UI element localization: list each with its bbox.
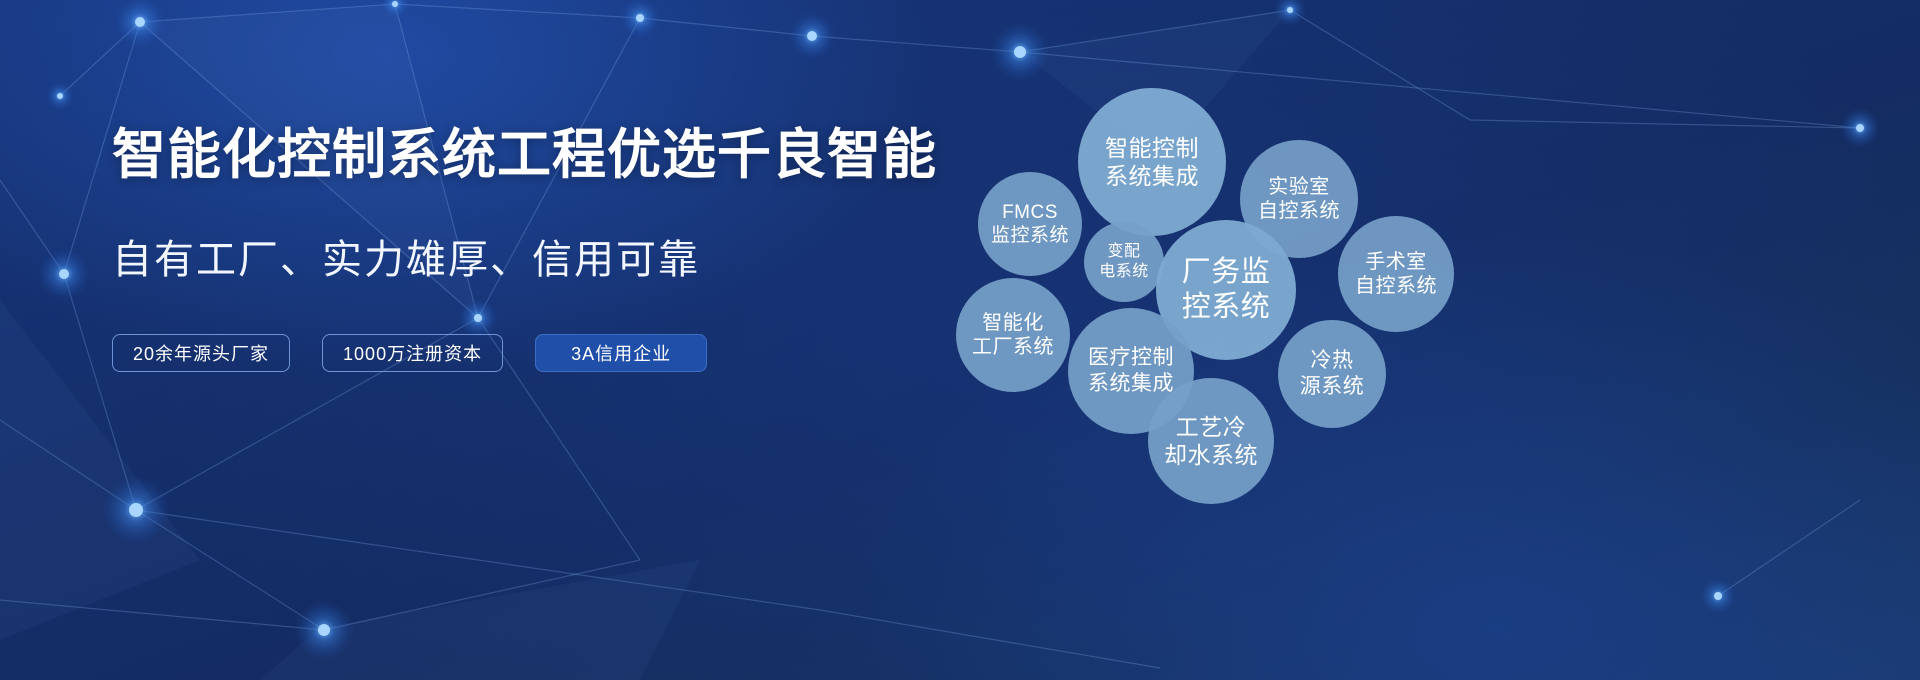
bubble-process-cooling-water-system[interactable]: 工艺冷却水系统: [1148, 378, 1274, 504]
bubble-power-distribution-system[interactable]: 变配电系统: [1084, 222, 1164, 302]
bubble-cold-heat-source-system[interactable]: 冷热源系统: [1278, 320, 1386, 428]
bubble-label-line: 智能控制: [1105, 134, 1199, 162]
bubble-intelligent-control-system-integration[interactable]: 智能控制系统集成: [1078, 88, 1226, 236]
bubble-label-line: 医疗控制: [1088, 345, 1174, 371]
bubble-label-line: 却水系统: [1164, 441, 1258, 469]
bubble-operating-room-automation-system[interactable]: 手术室自控系统: [1338, 216, 1454, 332]
bubble-label-line: 冷热: [1311, 348, 1354, 374]
badge-2[interactable]: 1000万注册资本: [322, 334, 503, 372]
badge-list: 20余年源头厂家1000万注册资本3A信用企业: [112, 334, 932, 372]
bubble-label-line: 厂务监: [1182, 255, 1271, 290]
bubble-label-line: 智能化: [982, 311, 1044, 335]
hero-banner: 智能化控制系统工程优选千良智能 自有工厂、实力雄厚、信用可靠 20余年源头厂家1…: [0, 0, 1920, 680]
bubble-label-line: 自控系统: [1258, 199, 1340, 223]
bubble-label-line: 工厂系统: [972, 335, 1054, 359]
bubble-label-line: 手术室: [1365, 250, 1427, 274]
hero-text-block: 智能化控制系统工程优选千良智能 自有工厂、实力雄厚、信用可靠 20余年源头厂家1…: [112, 124, 932, 372]
page-title: 智能化控制系统工程优选千良智能: [112, 124, 932, 188]
bubble-label-line: 源系统: [1300, 374, 1365, 400]
page-subtitle: 自有工厂、实力雄厚、信用可靠: [112, 236, 932, 284]
bubble-label-line: 系统集成: [1105, 162, 1199, 190]
bubble-label-line: 控系统: [1182, 290, 1271, 325]
badge-3[interactable]: 3A信用企业: [535, 334, 707, 372]
bubble-fmcs-monitoring-system[interactable]: FMCS监控系统: [978, 172, 1082, 276]
service-bubble-cluster: 智能控制系统集成实验室自控系统手术室自控系统FMCS监控系统变配电系统厂务监控系…: [940, 40, 1740, 550]
bubble-label-line: 工艺冷: [1176, 413, 1247, 441]
bubble-label-line: FMCS: [1002, 201, 1058, 224]
bubble-label-line: 变配: [1107, 242, 1140, 262]
bubble-label-line: 电系统: [1099, 262, 1149, 282]
bubble-label-line: 监控系统: [991, 224, 1069, 247]
bubble-intelligent-factory-system[interactable]: 智能化工厂系统: [956, 278, 1070, 392]
badge-1[interactable]: 20余年源头厂家: [112, 334, 290, 372]
bubble-label-line: 自控系统: [1355, 274, 1437, 298]
bubble-label-line: 实验室: [1268, 175, 1330, 199]
bubble-label-line: 系统集成: [1088, 371, 1174, 397]
